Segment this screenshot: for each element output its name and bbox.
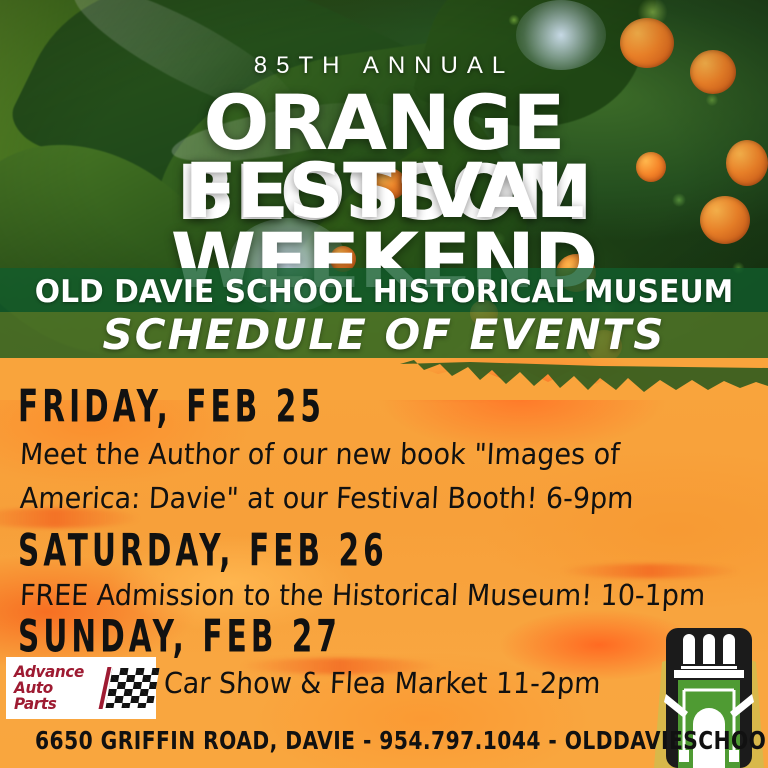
kicker-text: 85TH ANNUAL	[0, 52, 768, 80]
schedule-desc-friday-line2: America: Davie" at our Festival Booth! 6…	[19, 481, 634, 515]
sponsor-name-line2: Auto Parts	[14, 680, 98, 713]
festival-poster: 85TH ANNUAL ORANGE BLOSSOM FESTIVAL WEEK…	[0, 0, 768, 768]
schedule-desc-sunday: Car Show & Flea Market 11-2pm	[163, 666, 601, 700]
paint-streak	[330, 376, 590, 398]
paint-streak	[560, 564, 740, 578]
schedule-day-sunday: SUNDAY, FEB 27	[18, 611, 341, 663]
museum-name: OLD DAVIE SCHOOL HISTORICAL MUSEUM	[15, 274, 752, 310]
checkered-flag-icon	[106, 668, 160, 708]
logo-cupola-base	[681, 666, 737, 669]
schedule-desc-saturday: FREE Admission to the Historical Museum!…	[19, 578, 706, 612]
schedule-subtitle: SCHEDULE OF EVENTS	[0, 310, 768, 359]
logo-entablature	[674, 670, 744, 678]
advance-auto-parts-logo: Advance Auto Parts	[6, 657, 156, 719]
logo-cupola-windows	[683, 634, 735, 664]
sponsor-wordmark: Advance Auto Parts	[8, 664, 98, 713]
schedule-desc-friday-line1: Meet the Author of our new book "Images …	[19, 437, 620, 471]
footer-contact: 6650 GRIFFIN ROAD, DAVIE - 954.797.1044 …	[35, 726, 665, 755]
schedule-day-friday: FRIDAY, FEB 25	[18, 381, 325, 433]
schedule-day-saturday: SATURDAY, FEB 26	[18, 525, 388, 577]
